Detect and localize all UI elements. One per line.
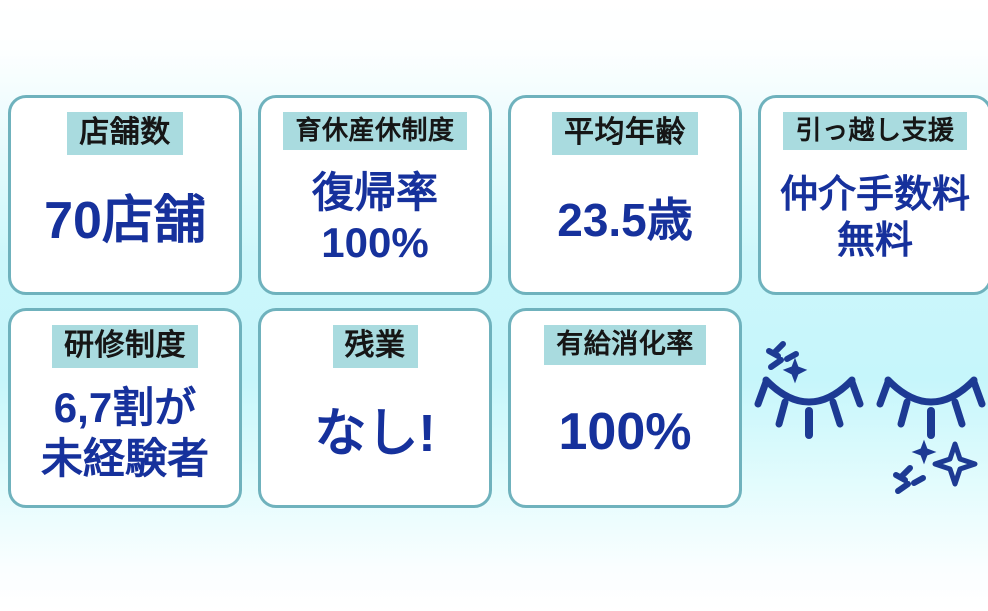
stat-card-overtime: 残業 なし!	[258, 308, 492, 508]
stat-card-moving-support: 引っ越し支援 仲介手数料 無料	[758, 95, 988, 295]
stat-card-value: 23.5歳	[511, 155, 739, 292]
stat-card-childcare-maternity-leave: 育休産休制度 復帰率 100%	[258, 95, 492, 295]
stat-value-line: なし!	[314, 405, 435, 463]
stat-value-line: 仲介手数料	[780, 172, 970, 218]
stat-card-value: なし!	[261, 368, 489, 505]
stat-card-value: 復帰率 100%	[261, 150, 489, 292]
stat-value-line: 復帰率	[312, 168, 438, 218]
stat-card-header: 引っ越し支援	[783, 112, 966, 150]
stat-value-line: 23.5歳	[557, 194, 693, 247]
stat-value-line: 100%	[559, 403, 692, 461]
stat-card-value: 6,7割が 未経験者	[11, 368, 239, 505]
stat-card-header: 平均年齢	[552, 112, 698, 155]
stat-card-value: 100%	[511, 365, 739, 505]
stat-value-line: 6,7割が	[54, 383, 196, 433]
stat-card-header: 有給消化率	[544, 325, 706, 365]
stat-card-value: 70店舗	[11, 155, 239, 292]
stat-card-header: 研修制度	[52, 325, 198, 368]
stat-card-header: 残業	[333, 325, 418, 368]
stat-card-paid-leave-usage: 有給消化率 100%	[508, 308, 742, 508]
stat-card-training-system: 研修制度 6,7割が 未経験者	[8, 308, 242, 508]
stats-card-grid: 店舗数 70店舗 育休産休制度 復帰率 100% 平均年齢 23.5歳 引っ越し…	[8, 95, 984, 508]
stat-value-line: 無料	[837, 218, 913, 264]
stat-card-value: 仲介手数料 無料	[761, 150, 988, 292]
stat-card-header: 店舗数	[67, 112, 183, 155]
stat-card-store-count: 店舗数 70店舗	[8, 95, 242, 295]
stat-value-line: 100%	[321, 218, 428, 268]
stat-value-line: 70店舗	[44, 192, 206, 250]
infographic-canvas: 店舗数 70店舗 育休産休制度 復帰率 100% 平均年齢 23.5歳 引っ越し…	[0, 0, 988, 611]
stat-card-header: 育休産休制度	[283, 112, 466, 150]
stat-card-average-age: 平均年齢 23.5歳	[508, 95, 742, 295]
stat-value-line: 未経験者	[41, 434, 209, 484]
